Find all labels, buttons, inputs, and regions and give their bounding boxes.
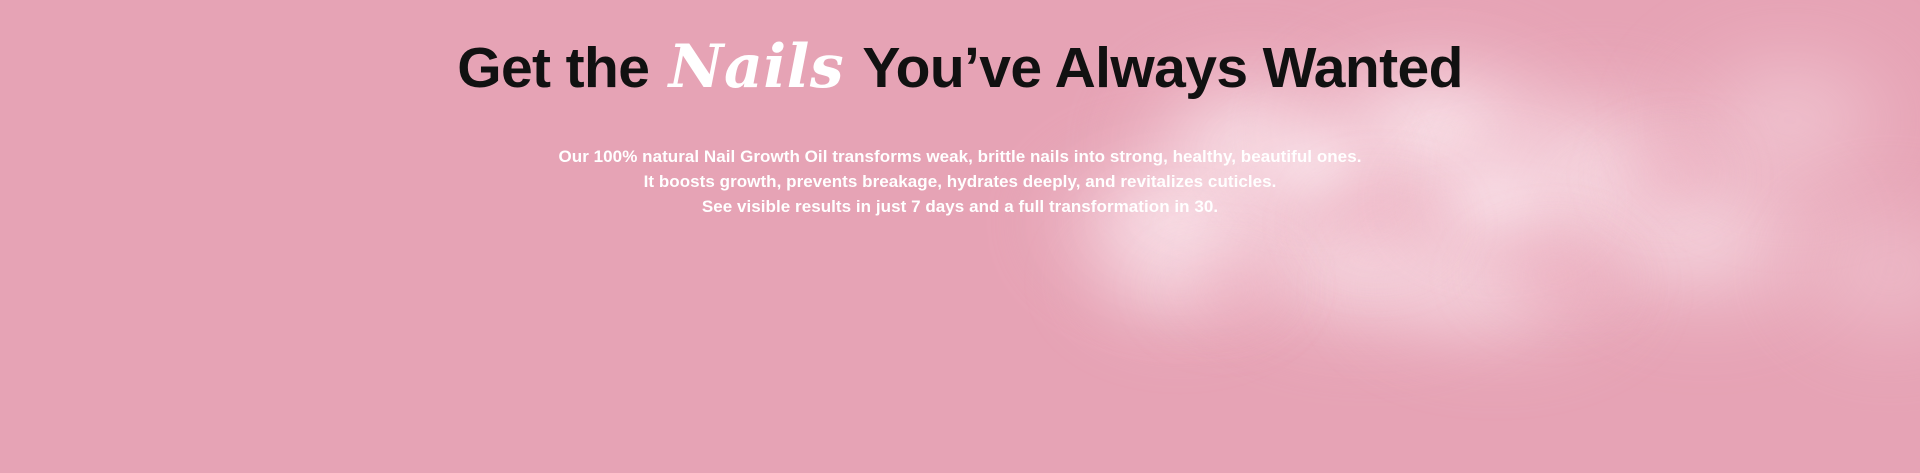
headline-accent-word: Nails [665, 32, 849, 102]
hero-content: Get the Nails You’ve Always Wanted Our 1… [0, 0, 1920, 473]
hero-subcopy: Our 100% natural Nail Growth Oil transfo… [0, 144, 1920, 219]
subcopy-line: It boosts growth, prevents breakage, hyd… [0, 169, 1920, 194]
subcopy-line: Our 100% natural Nail Growth Oil transfo… [0, 144, 1920, 169]
subcopy-line: See visible results in just 7 days and a… [0, 194, 1920, 219]
hero-headline: Get the Nails You’ve Always Wanted [0, 33, 1920, 102]
headline-part-one: Get the [457, 36, 649, 100]
hero-banner: Get the Nails You’ve Always Wanted Our 1… [0, 0, 1920, 473]
headline-part-two: You’ve Always Wanted [862, 36, 1462, 100]
